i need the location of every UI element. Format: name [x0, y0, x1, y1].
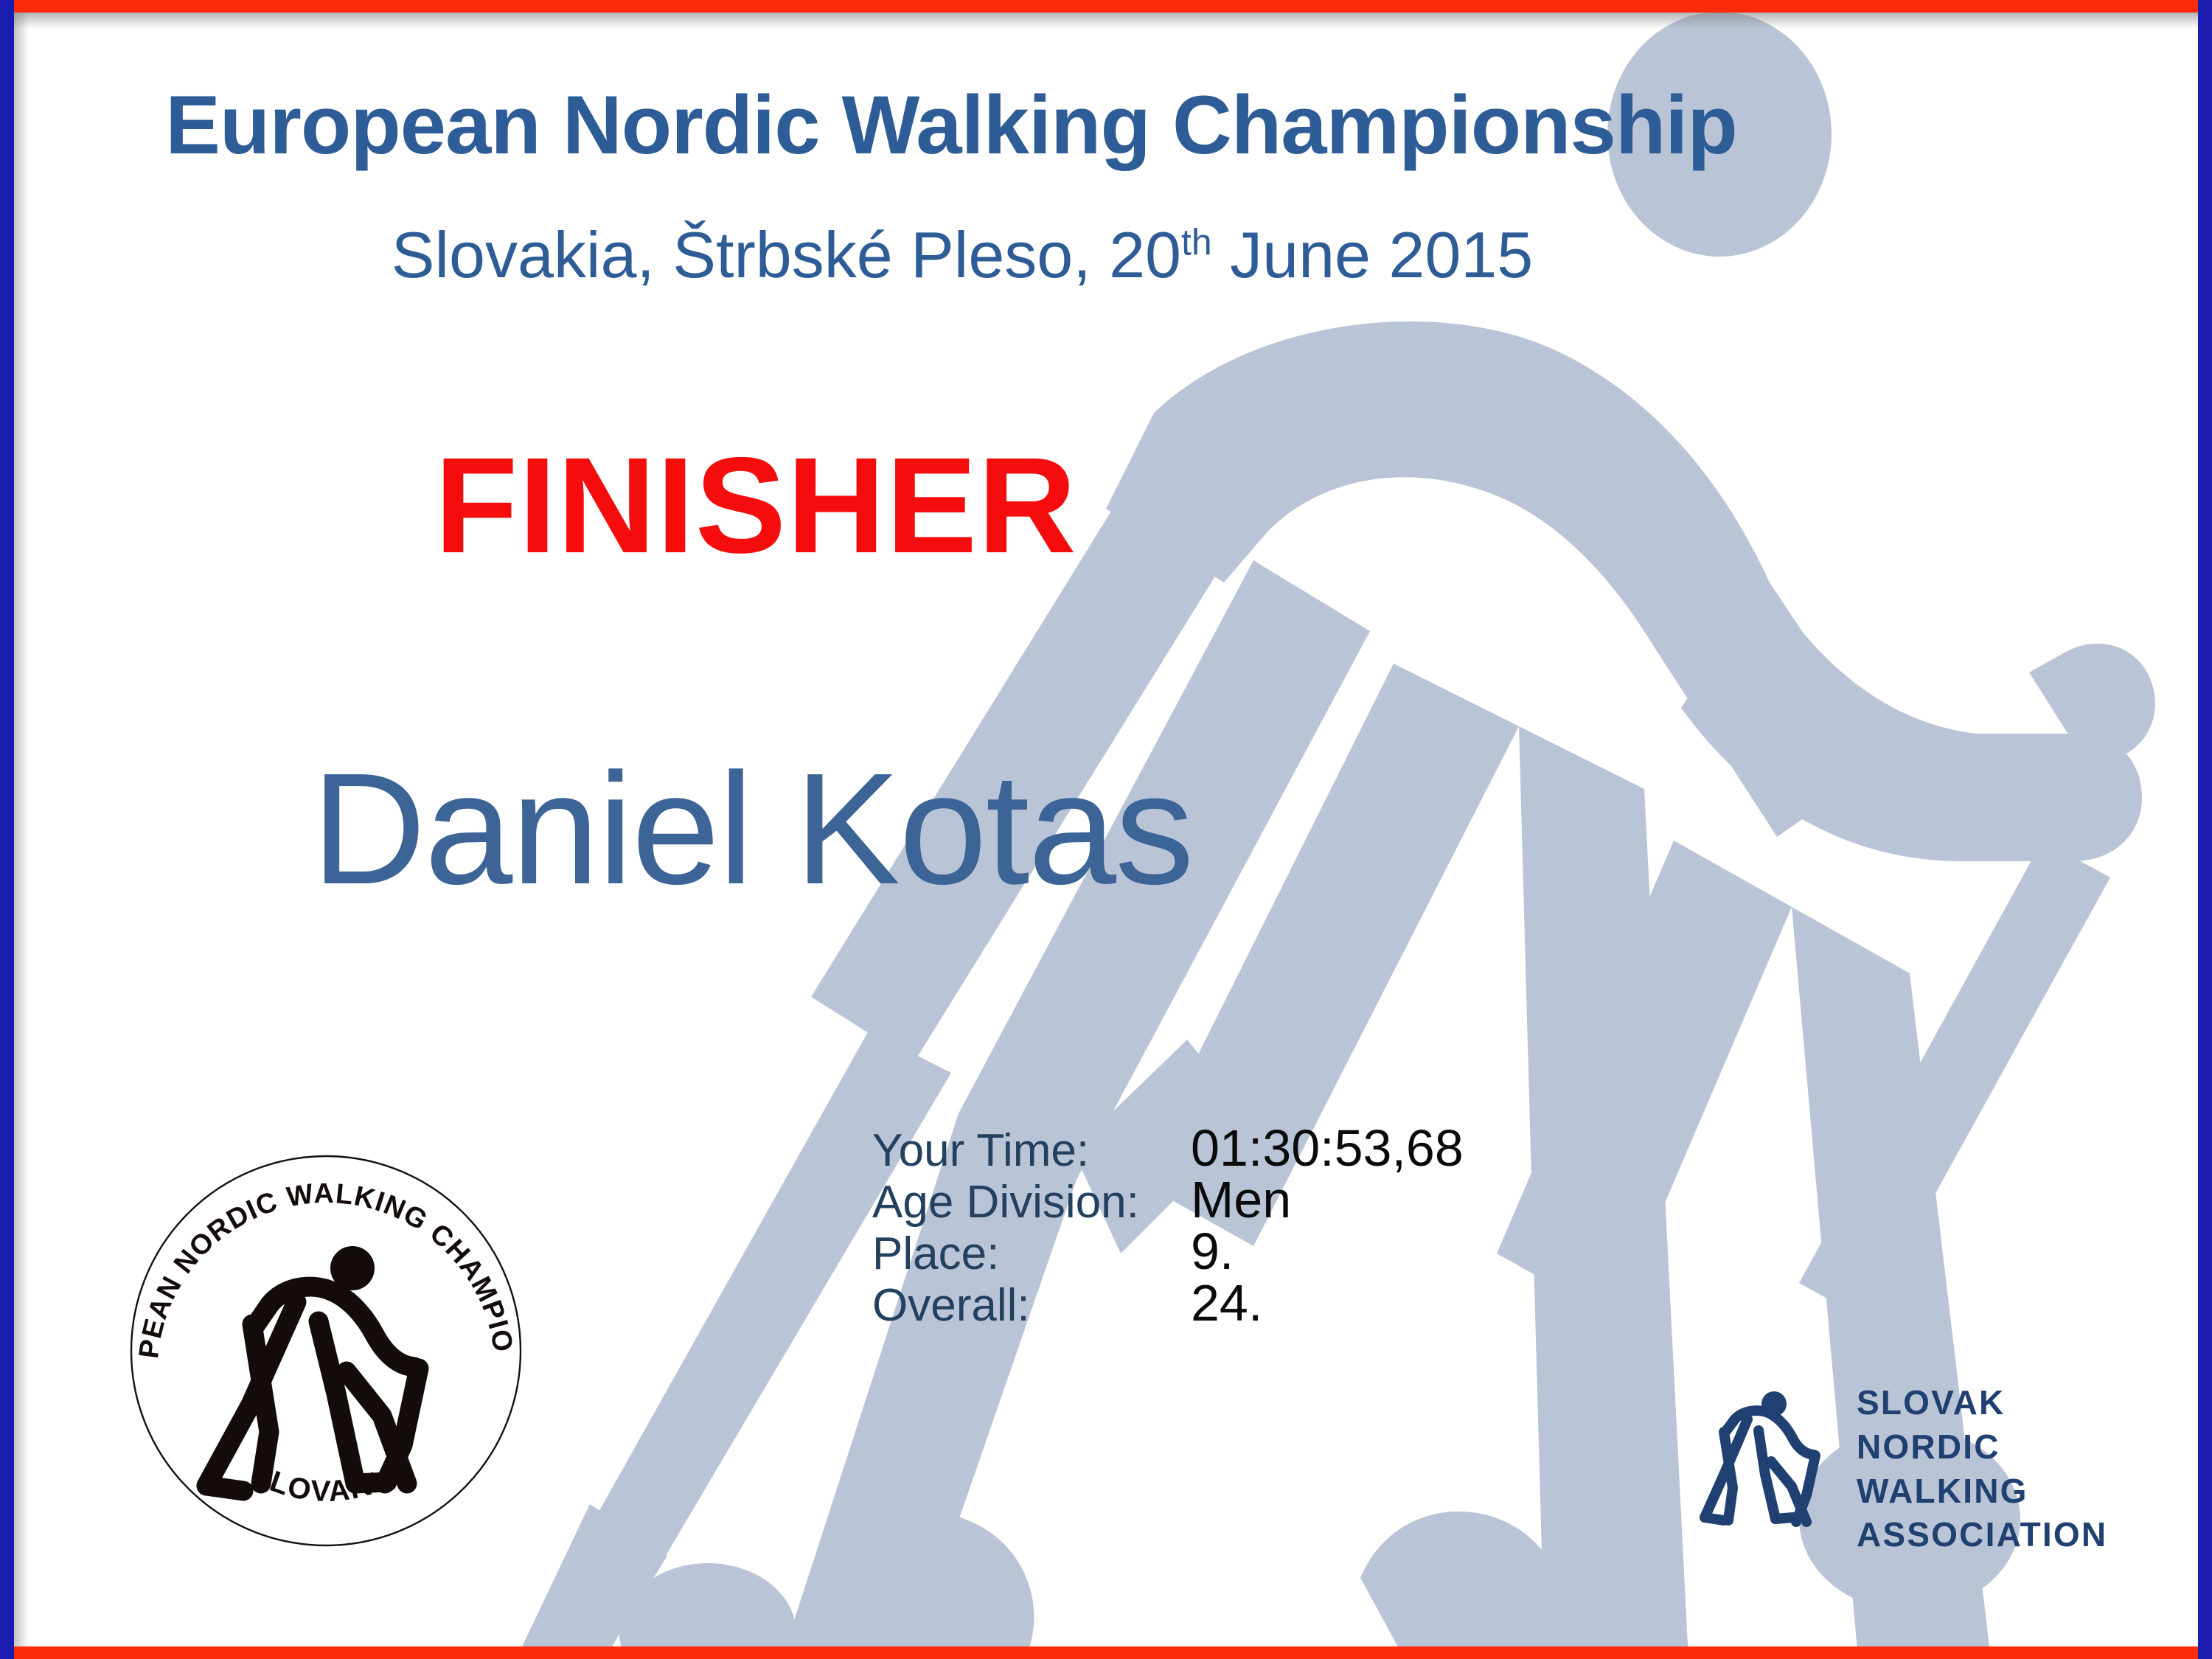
result-row-your-time: Your Time: 01:30:53,68 [872, 1122, 1464, 1174]
association-name-line2: NORDIC WALKING [1857, 1425, 2109, 1514]
left-border-shadow [14, 13, 29, 1646]
result-value-place: 9. [1191, 1225, 1234, 1277]
result-value-age-division: Men [1191, 1174, 1291, 1225]
certificate-canvas: European Nordic Walking Championship Slo… [0, 0, 2212, 1659]
athlete-name-text: Daniel Kotas [311, 737, 1192, 920]
border-left-blue [0, 0, 14, 1659]
result-row-overall: Overall: 24. [872, 1277, 1464, 1329]
result-label-age-division: Age Division: [872, 1180, 1191, 1225]
result-row-age-division: Age Division: Men [872, 1174, 1464, 1225]
seal-walker-head [330, 1246, 375, 1290]
association-name-line3: ASSOCIATION [1857, 1513, 2109, 1557]
slovak-nordic-walking-association-logo: SLOVAK NORDIC WALKING ASSOCIATION [1688, 1382, 2109, 1556]
award-label: FINISHER [0, 428, 2212, 584]
results-table: Your Time: 01:30:53,68 Age Division: Men… [872, 1122, 1464, 1329]
subtitle-prefix: Slovakia, Štrbské Pleso, 20 [392, 218, 1181, 291]
page-title-text: European Nordic Walking Championship [165, 77, 1737, 173]
border-right-blue [2198, 0, 2212, 1659]
result-value-your-time: 01:30:53,68 [1191, 1122, 1464, 1174]
result-label-overall: Overall: [872, 1283, 1191, 1329]
border-top-red [0, 0, 2212, 13]
result-label-your-time: Your Time: [872, 1128, 1191, 1174]
association-name: SLOVAK NORDIC WALKING ASSOCIATION [1857, 1381, 2109, 1557]
result-row-place: Place: 9. [872, 1225, 1464, 1277]
top-border-shadow [14, 13, 2198, 29]
border-bottom-red [0, 1646, 2212, 1659]
result-value-overall: 24. [1191, 1277, 1262, 1329]
event-subtitle: Slovakia, Štrbské Pleso, 20th June 2015 [0, 218, 2212, 293]
athlete-name: Daniel Kotas [0, 737, 2212, 920]
ordinal-suffix: th [1181, 222, 1212, 263]
association-walker-head [1761, 1391, 1787, 1416]
result-label-place: Place: [872, 1231, 1191, 1277]
association-name-line1: SLOVAK [1857, 1381, 2109, 1425]
championship-seal-logo: EUROPEAN NORDIC WALKING CHAMPIONSHIP SLO… [125, 1150, 527, 1552]
page-title: European Nordic Walking Championship [0, 77, 2212, 173]
subtitle-suffix: June 2015 [1212, 218, 1534, 291]
award-label-text: FINISHER [434, 428, 1077, 584]
association-walker-icon [1688, 1385, 1836, 1554]
